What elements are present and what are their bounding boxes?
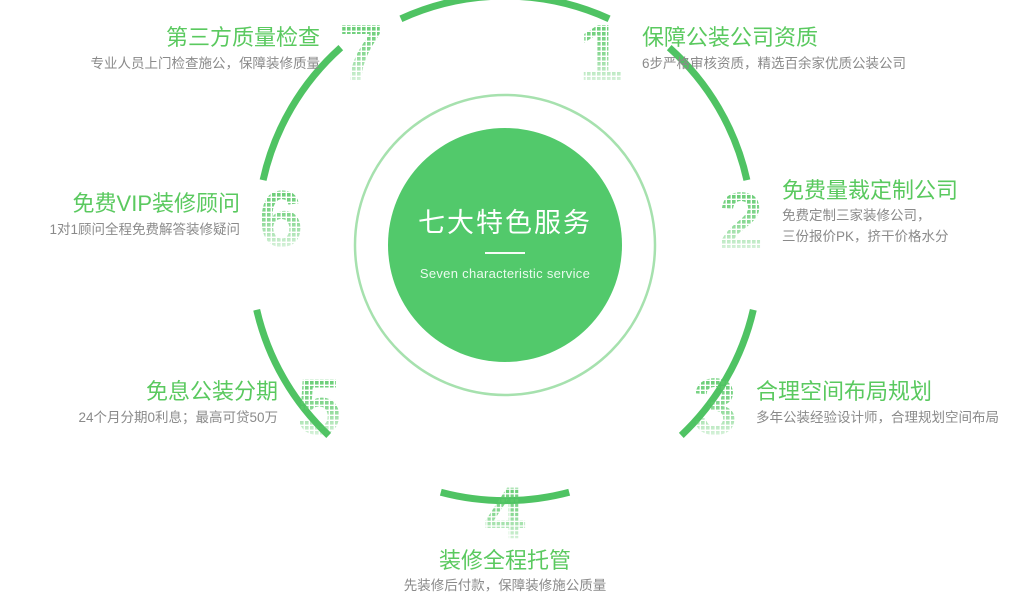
service-subtitle-7: 专业人员上门检查施公，保障装修质量 xyxy=(60,54,320,75)
service-title-1: 保障公装公司资质 xyxy=(642,25,972,50)
service-item-7[interactable]: 7 第三方质量检查 专业人员上门检查施公，保障装修质量 xyxy=(60,12,390,88)
service-item-6[interactable]: 6 免费VIP装修顾问 1对1顾问全程免费解答装修疑问 xyxy=(0,178,310,254)
service-subtitle-6: 1对1顾问全程免费解答装修疑问 xyxy=(0,220,240,241)
numeral-7-icon: 7 xyxy=(332,12,390,88)
service-subtitle-5: 24个月分期0利息；最高可贷50万 xyxy=(8,408,278,429)
numeral-4-icon: 4 xyxy=(476,476,534,546)
svg-text:7: 7 xyxy=(339,12,384,88)
numeral-6-icon: 6 xyxy=(252,178,310,254)
service-title-2: 免费量裁定制公司 xyxy=(782,178,1022,203)
center-subtitle: Seven characteristic service xyxy=(420,266,590,281)
service-item-1[interactable]: 1 保障公装公司资质 6步严格审核资质，精选百余家优质公装公司 xyxy=(572,12,972,88)
service-title-7: 第三方质量检查 xyxy=(60,25,320,50)
svg-text:2: 2 xyxy=(719,180,764,256)
service-title-6: 免费VIP装修顾问 xyxy=(0,191,240,216)
service-title-5: 免息公装分期 xyxy=(8,379,278,404)
service-title-4: 装修全程托管 xyxy=(345,548,665,573)
service-item-3[interactable]: 3 合理空间布局规划 多年公装经验设计师，合理规划空间布局 xyxy=(686,366,1034,442)
svg-text:6: 6 xyxy=(259,178,304,254)
service-subtitle-3: 多年公装经验设计师，合理规划空间布局 xyxy=(756,408,1034,429)
service-subtitle-1: 6步严格审核资质，精选百余家优质公装公司 xyxy=(642,54,972,75)
numeral-3-icon: 3 xyxy=(686,366,744,442)
service-subtitle-4: 先装修后付款，保障装修施公质量 xyxy=(345,576,665,597)
svg-text:3: 3 xyxy=(693,366,738,442)
svg-text:5: 5 xyxy=(297,366,342,442)
numeral-2-icon: 2 xyxy=(712,180,770,256)
service-title-3: 合理空间布局规划 xyxy=(756,379,1034,404)
center-divider xyxy=(485,252,525,254)
service-subtitle-2-line-2: 三份报价PK，挤干价格水分 xyxy=(782,227,1022,248)
svg-text:4: 4 xyxy=(485,476,526,546)
service-item-4[interactable]: 4 装修全程托管 先装修后付款，保障装修施公质量 xyxy=(345,476,665,597)
seven-services-infographic: 七大特色服务 Seven characteristic service xyxy=(0,0,1034,615)
center-title: 七大特色服务 xyxy=(418,209,592,239)
service-item-5[interactable]: 5 免息公装分期 24个月分期0利息；最高可贷50万 xyxy=(8,366,348,442)
service-subtitle-2-line-1: 免费定制三家装修公司， xyxy=(782,206,1022,227)
service-item-2[interactable]: 2 免费量裁定制公司 免费定制三家装修公司， 三份报价PK，挤干价格水分 xyxy=(712,178,1022,256)
numeral-5-icon: 5 xyxy=(290,366,348,442)
numeral-1-icon: 1 xyxy=(572,12,630,88)
svg-text:1: 1 xyxy=(579,12,624,88)
center-hub: 七大特色服务 Seven characteristic service xyxy=(388,128,622,362)
